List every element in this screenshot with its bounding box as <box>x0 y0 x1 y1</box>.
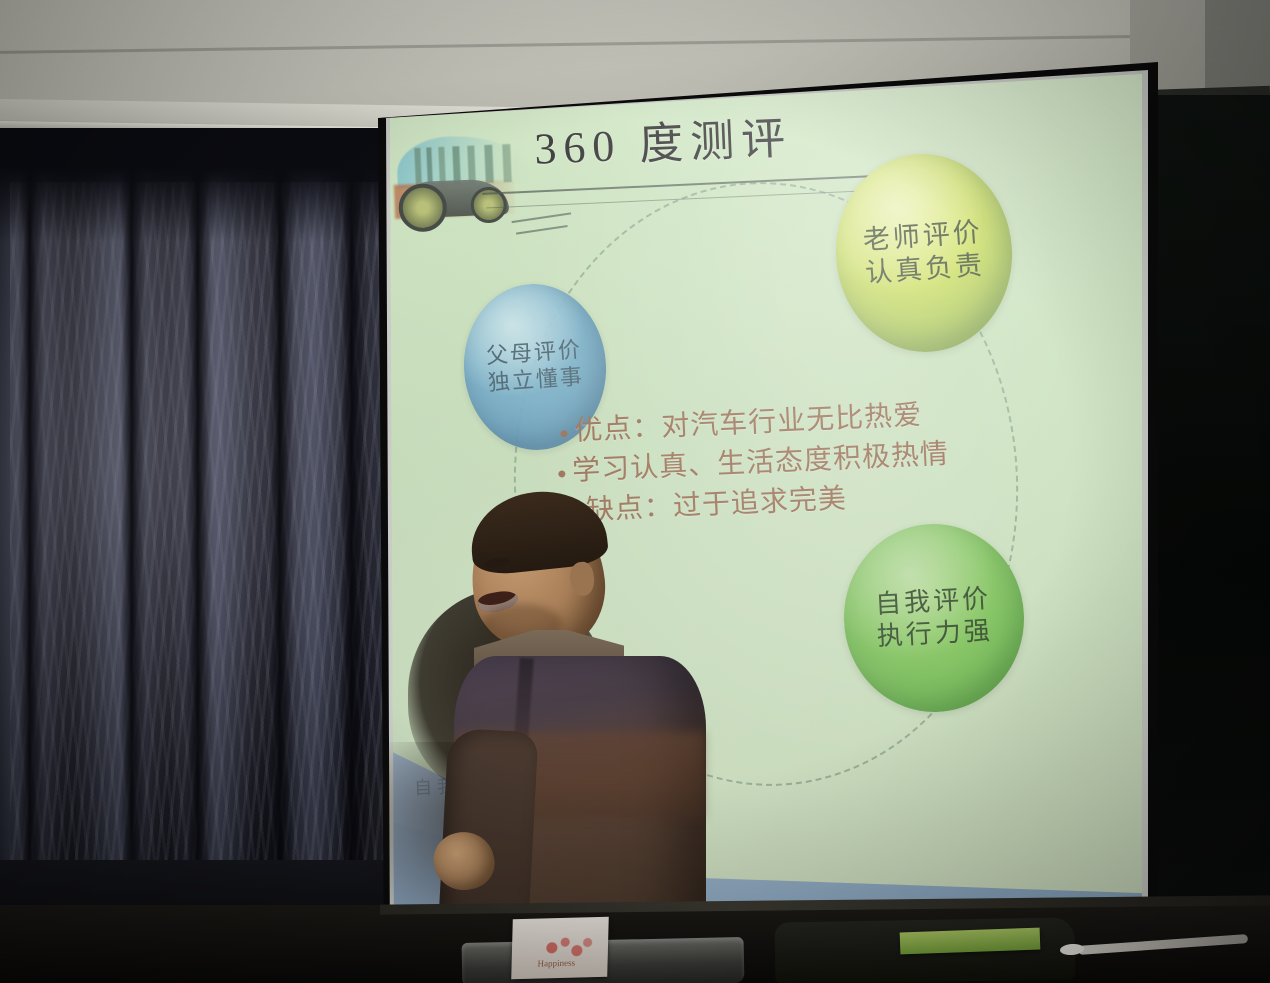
chalk-box-label: Happiness <box>537 958 575 969</box>
bullet-dot-icon <box>560 430 567 437</box>
bubble-self-line2: 执行力强 <box>876 615 994 653</box>
curtain-fold <box>186 128 212 983</box>
speed-line <box>511 212 571 223</box>
window-curtains <box>0 128 420 983</box>
car-skyline-icon <box>391 121 536 255</box>
chalk-box: Happiness <box>511 917 609 980</box>
curtain-fold <box>18 128 44 983</box>
curtain-top-drape <box>0 128 420 242</box>
blackboard <box>1140 95 1270 955</box>
car-wheel-front-icon <box>398 183 448 233</box>
curtain-fold <box>268 128 294 983</box>
ceiling-seam <box>0 33 1270 54</box>
curtain-fold <box>340 128 366 983</box>
speed-line <box>516 225 568 235</box>
bullet-dot-icon <box>558 470 565 477</box>
bubble-parent-line2: 独立懂事 <box>487 364 585 397</box>
classroom-photo: 360 度测评 老师评价 认真负责 父母评价 独立懂事 自我评价 执行力强 <box>0 0 1270 983</box>
bubble-teacher-line2: 认真负责 <box>864 249 986 290</box>
curtain-fold <box>120 128 146 983</box>
